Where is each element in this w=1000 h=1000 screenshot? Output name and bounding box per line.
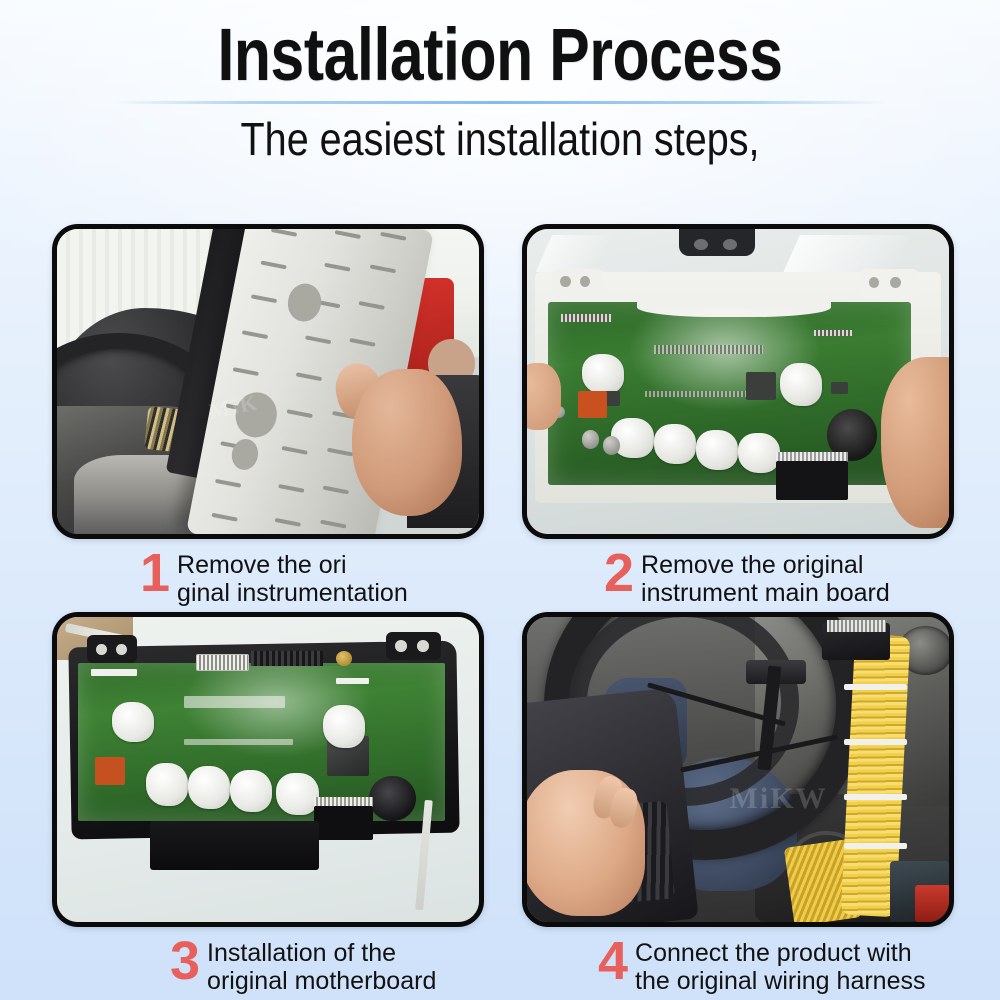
page-title: Installation Process [90, 0, 910, 98]
photo-car-interior-removing-cluster: MiK [57, 229, 479, 534]
page-subtitle: The easiest installation steps, [70, 98, 930, 166]
step-card-3: 3 Installation of the original motherboa… [52, 612, 482, 995]
step-1-caption: 1 Remove the ori ginal instrumentation [52, 550, 482, 607]
step-2-photo-frame [522, 224, 954, 539]
step-3-caption: 3 Installation of the original motherboa… [52, 938, 482, 995]
photo-hand-holding-main-board [527, 229, 949, 534]
step-4-caption: 4 Connect the product with the original … [522, 938, 952, 995]
step-1-text: Remove the ori ginal instrumentation [177, 550, 408, 607]
photo-motherboard-in-housing [57, 617, 479, 922]
step-2-text: Remove the original instrument main boar… [641, 550, 890, 607]
page-header: Installation Process The easiest install… [0, 0, 1000, 166]
step-card-1: MiK 1 Remove the ori ginal instrumentati… [52, 224, 482, 607]
step-3-text: Installation of the original motherboard [207, 938, 436, 995]
step-1-number: 1 [140, 548, 170, 598]
step-4-text: Connect the product with the original wi… [635, 938, 925, 995]
photo-connecting-wiring-harness: MiKW [527, 617, 949, 922]
step-3-number: 3 [170, 936, 200, 986]
steps-grid: MiK 1 Remove the ori ginal instrumentati… [0, 216, 1000, 1000]
step-2-caption: 2 Remove the original instrument main bo… [522, 550, 952, 607]
step-2-number: 2 [604, 548, 634, 598]
step-3-photo-frame [52, 612, 484, 927]
step-4-photo-frame: MiKW [522, 612, 954, 927]
step-card-2: 2 Remove the original instrument main bo… [522, 224, 952, 607]
step-card-4: MiKW 4 Connect the product with the orig… [522, 612, 952, 995]
step-4-number: 4 [598, 936, 628, 986]
step-1-photo-frame: MiK [52, 224, 484, 539]
